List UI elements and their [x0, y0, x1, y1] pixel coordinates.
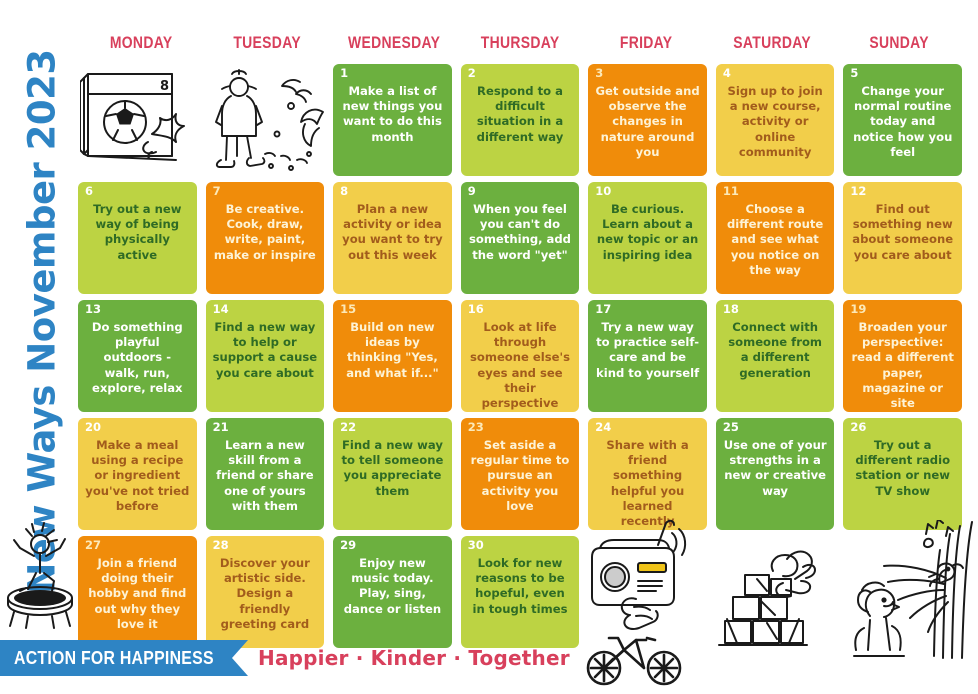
organisation-name: ACTION FOR HAPPINESS [14, 648, 214, 669]
weekday-header-monday: MONDAY [89, 28, 193, 58]
day-number: 28 [213, 539, 229, 552]
day-action-text: Look at life through someone else's eyes… [466, 320, 575, 411]
day-number: 7 [213, 185, 221, 198]
day-number: 23 [468, 421, 484, 434]
calendar-day-14[interactable]: 14Find a new way to help or support a ca… [206, 300, 325, 412]
day-action-text: Connect with someone from a different ge… [721, 320, 830, 406]
day-number: 15 [340, 303, 356, 316]
day-action-text: Change your normal routine today and not… [848, 84, 957, 170]
weekday-header-row: MONDAYTUESDAYWEDNESDAYTHURSDAYFRIDAYSATU… [78, 28, 962, 58]
day-action-text: Broaden your perspective: read a differe… [848, 320, 957, 411]
trampoline-icon [2, 520, 78, 630]
day-action-text: Join a friend doing their hobby and find… [83, 556, 192, 642]
calendar-day-16[interactable]: 16Look at life through someone else's ey… [461, 300, 580, 412]
day-number: 25 [723, 421, 739, 434]
page-title: New Ways November 2023 [21, 42, 64, 602]
day-number: 18 [723, 303, 739, 316]
calendar-day-24[interactable]: 24Share with a friend something helpful … [588, 418, 707, 530]
day-number: 6 [85, 185, 93, 198]
bird-tree-icon [840, 520, 978, 660]
day-action-text: Try out a different radio station or new… [848, 438, 957, 524]
banner-arrow-shape [232, 640, 248, 676]
day-number: 13 [85, 303, 101, 316]
day-action-text: Find out something new about someone you… [848, 202, 957, 288]
svg-text:8: 8 [160, 79, 169, 94]
day-action-text: Find a new way to tell someone you appre… [338, 438, 447, 524]
day-action-text: Plan a new activity or idea you want to … [338, 202, 447, 288]
calendar-day-4[interactable]: 4Sign up to join a new course, activity … [716, 64, 835, 176]
day-number: 9 [468, 185, 476, 198]
day-number: 4 [723, 67, 731, 80]
calendar-day-6[interactable]: 6Try out a new way of being physically a… [78, 182, 197, 294]
calendar-day-13[interactable]: 13Do something playful outdoors - walk, … [78, 300, 197, 412]
calendar-day-7[interactable]: 7Be creative. Cook, draw, write, paint, … [206, 182, 325, 294]
day-number: 5 [850, 67, 858, 80]
day-number: 2 [468, 67, 476, 80]
action-for-happiness-banner[interactable]: ACTION FOR HAPPINESS [0, 640, 232, 676]
calendar-day-21[interactable]: 21Learn a new skill from a friend or sha… [206, 418, 325, 530]
calendar-poster: New Ways November 2023 MONDAYTUESDAYWEDN… [0, 0, 978, 694]
calendar-day-19[interactable]: 19Broaden your perspective: read a diffe… [843, 300, 962, 412]
calendar-day-9[interactable]: 9When you feel you can't do something, a… [461, 182, 580, 294]
day-action-text: Choose a different route and see what yo… [721, 202, 830, 288]
day-action-text: Sign up to join a new course, activity o… [721, 84, 830, 170]
day-number: 26 [850, 421, 866, 434]
day-number: 14 [213, 303, 229, 316]
radio-icon [580, 515, 710, 635]
calendar-day-22[interactable]: 22Find a new way to tell someone you app… [333, 418, 452, 530]
day-action-text: Enjoy new music today. Play, sing, dance… [338, 556, 447, 642]
footer: ACTION FOR HAPPINESS Happier · Kinder · … [0, 640, 978, 680]
day-action-text: Learn a new skill from a friend or share… [211, 438, 320, 524]
calendar-day-10[interactable]: 10Be curious. Learn about a new topic or… [588, 182, 707, 294]
day-action-text: Respond to a difficult situation in a di… [466, 84, 575, 170]
calendar-day-25[interactable]: 25Use one of your strengths in a new or … [716, 418, 835, 530]
calendar-day-1[interactable]: 1Make a list of new things you want to d… [333, 64, 452, 176]
calendar-day-11[interactable]: 11Choose a different route and see what … [716, 182, 835, 294]
day-action-text: Do something playful outdoors - walk, ru… [83, 320, 192, 406]
day-action-text: Use one of your strengths in a new or cr… [721, 438, 830, 524]
calendar-day-26[interactable]: 26Try out a different radio station or n… [843, 418, 962, 530]
calendar-football-icon: 8 [80, 64, 198, 176]
day-number: 8 [340, 185, 348, 198]
calendar-day-3[interactable]: 3Get outside and observe the changes in … [588, 64, 707, 176]
calendar-day-15[interactable]: 15Build on new ideas by thinking "Yes, a… [333, 300, 452, 412]
calendar-day-5[interactable]: 5Change your normal routine today and no… [843, 64, 962, 176]
day-number: 20 [85, 421, 101, 434]
day-action-text: Make a meal using a recipe or ingredient… [83, 438, 192, 524]
day-number: 29 [340, 539, 356, 552]
weekday-header-saturday: SATURDAY [721, 28, 825, 58]
calendar-day-27[interactable]: 27Join a friend doing their hobby and fi… [78, 536, 197, 648]
day-number: 1 [340, 67, 348, 80]
day-number: 17 [595, 303, 611, 316]
day-action-text: Set aside a regular time to pursue an ac… [466, 438, 575, 524]
weekday-header-sunday: SUNDAY [847, 28, 951, 58]
day-number: 22 [340, 421, 356, 434]
calendar-day-8[interactable]: 8Plan a new activity or idea you want to… [333, 182, 452, 294]
day-number: 30 [468, 539, 484, 552]
calendar-day-20[interactable]: 20Make a meal using a recipe or ingredie… [78, 418, 197, 530]
calendar-day-30[interactable]: 30Look for new reasons to be hopeful, ev… [461, 536, 580, 648]
day-action-text: Discover your artistic side. Design a fr… [211, 556, 320, 642]
day-action-text: Try a new way to practice self-care and … [593, 320, 702, 406]
day-number: 11 [723, 185, 739, 198]
calendar-day-18[interactable]: 18Connect with someone from a different … [716, 300, 835, 412]
day-action-text: Build on new ideas by thinking "Yes, and… [338, 320, 447, 406]
day-action-text: Be curious. Learn about a new topic or a… [593, 202, 702, 288]
day-action-text: Get outside and observe the changes in n… [593, 84, 702, 170]
calendar-day-2[interactable]: 2Respond to a difficult situation in a d… [461, 64, 580, 176]
day-action-text: Be creative. Cook, draw, write, paint, m… [211, 202, 320, 288]
weekday-header-friday: FRIDAY [595, 28, 699, 58]
calendar-day-29[interactable]: 29Enjoy new music today. Play, sing, dan… [333, 536, 452, 648]
day-number: 12 [850, 185, 866, 198]
calendar-day-12[interactable]: 12Find out something new about someone y… [843, 182, 962, 294]
day-number: 19 [850, 303, 866, 316]
day-action-text: Find a new way to help or support a caus… [211, 320, 320, 406]
day-action-text: Try out a new way of being physically ac… [83, 202, 192, 288]
day-number: 27 [85, 539, 101, 552]
tagline: Happier · Kinder · Together [258, 640, 570, 676]
calendar-day-17[interactable]: 17Try a new way to practice self-care an… [588, 300, 707, 412]
day-number: 16 [468, 303, 484, 316]
calendar-day-23[interactable]: 23Set aside a regular time to pursue an … [461, 418, 580, 530]
day-action-text: When you feel you can't do something, ad… [466, 202, 575, 288]
day-number: 3 [595, 67, 603, 80]
day-number: 24 [595, 421, 611, 434]
weekday-header-wednesday: WEDNESDAY [342, 28, 446, 58]
day-number: 21 [213, 421, 229, 434]
weekday-header-thursday: THURSDAY [468, 28, 572, 58]
walker-autumn-icon [205, 62, 335, 180]
day-action-text: Look for new reasons to be hopeful, even… [466, 556, 575, 642]
day-number: 10 [595, 185, 611, 198]
weekday-header-tuesday: TUESDAY [216, 28, 320, 58]
day-action-text: Make a list of new things you want to do… [338, 84, 447, 170]
calendar-day-28[interactable]: 28Discover your artistic side. Design a … [206, 536, 325, 648]
